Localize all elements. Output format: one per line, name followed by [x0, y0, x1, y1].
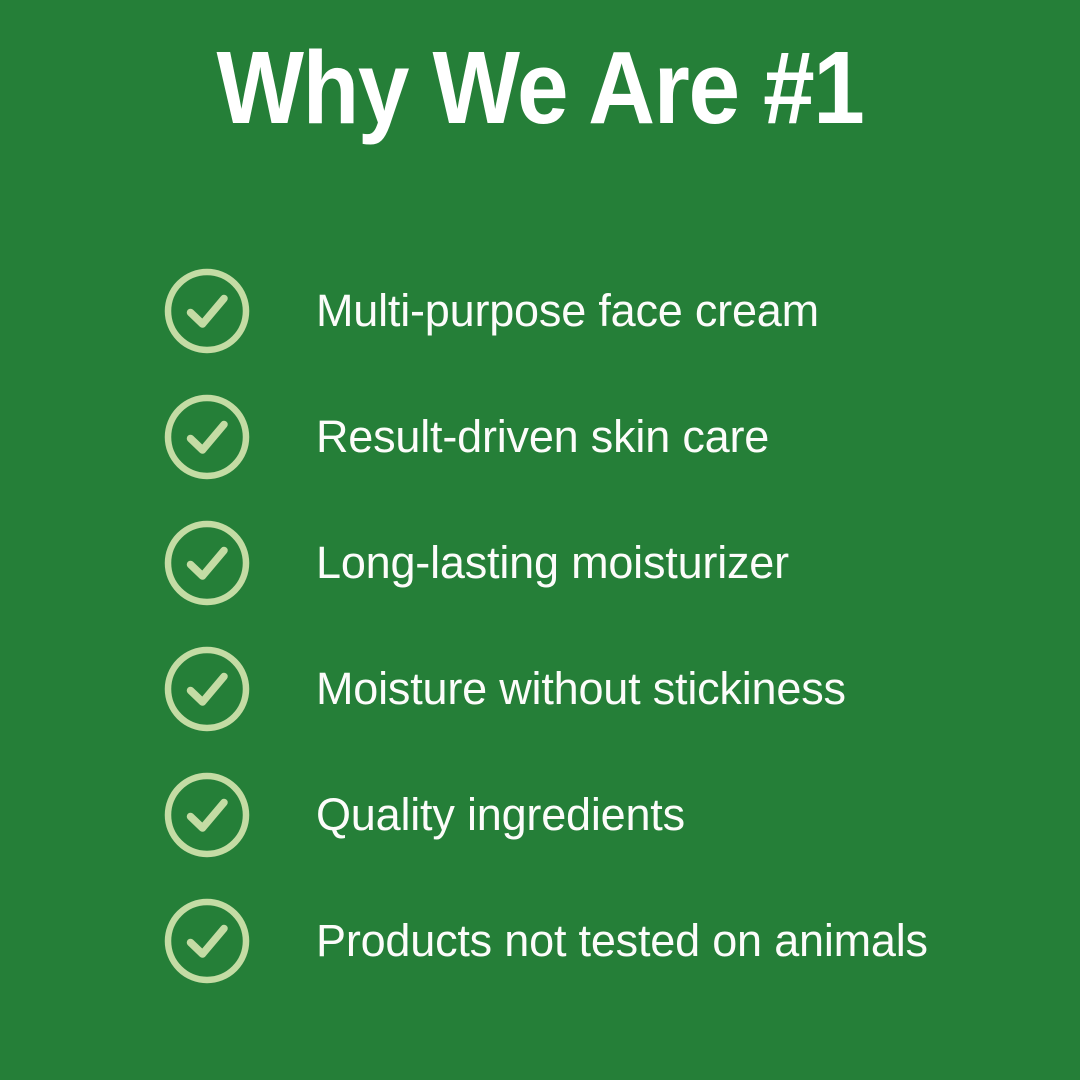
list-item-label: Moisture without stickiness: [316, 665, 1024, 712]
list-item: Long-lasting moisturizer: [164, 520, 1024, 606]
list-item: Moisture without stickiness: [164, 646, 1024, 732]
page-title: Why We Are #1: [54, 36, 1026, 139]
list-item: Quality ingredients: [164, 772, 1024, 858]
check-circle-icon: [164, 898, 250, 984]
list-item-label: Products not tested on animals: [316, 917, 1024, 964]
check-circle-icon: [164, 268, 250, 354]
list-item-label: Long-lasting moisturizer: [316, 539, 1024, 586]
list-item-label: Quality ingredients: [316, 791, 1024, 838]
list-item: Result-driven skin care: [164, 394, 1024, 480]
list-item-label: Multi-purpose face cream: [316, 287, 1024, 334]
list-item: Products not tested on animals: [164, 898, 1024, 984]
check-circle-icon: [164, 646, 250, 732]
list-item-label: Result-driven skin care: [316, 413, 1024, 460]
check-circle-icon: [164, 772, 250, 858]
check-circle-icon: [164, 520, 250, 606]
promo-graphic-canvas: Why We Are #1 Multi-purpose face cream R…: [0, 0, 1080, 1080]
feature-benefit-list: Multi-purpose face cream Result-driven s…: [164, 268, 1024, 984]
check-circle-icon: [164, 394, 250, 480]
list-item: Multi-purpose face cream: [164, 268, 1024, 354]
